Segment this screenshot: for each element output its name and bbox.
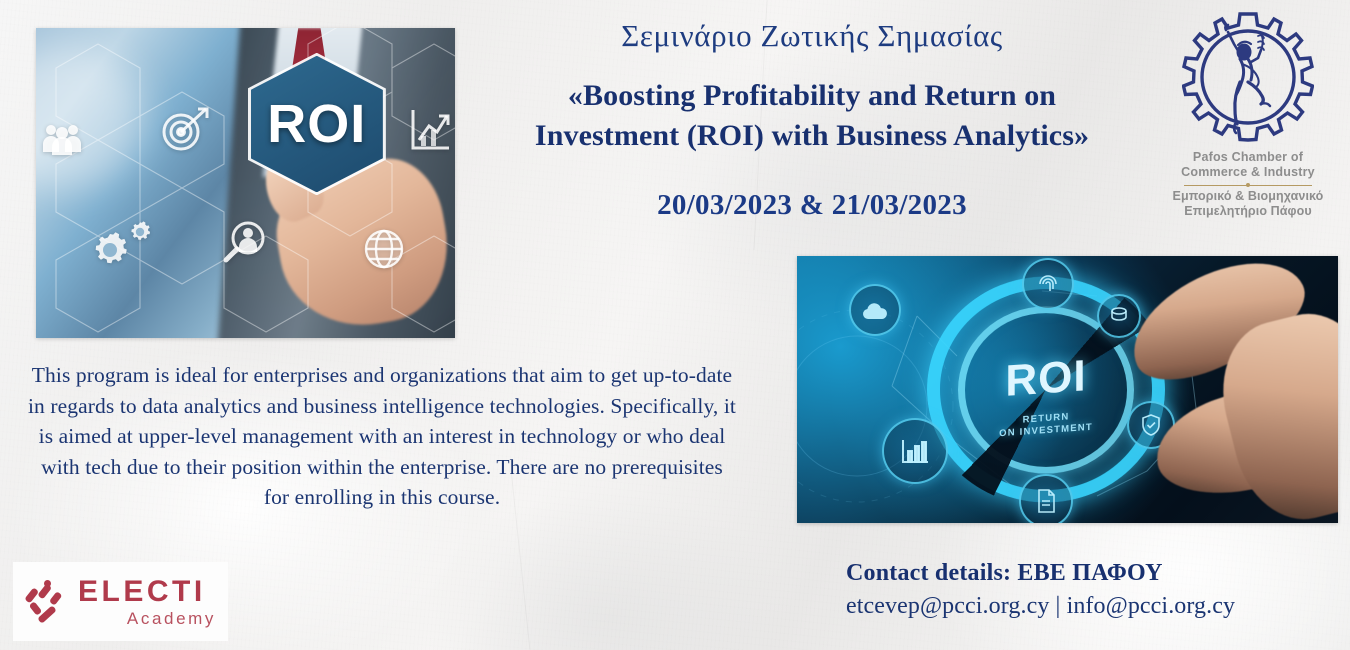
pcci-name-gr-line1: Εμπορικό & Βιομηχανικό — [1158, 189, 1338, 204]
left-hero-photo: ROI — [36, 28, 455, 338]
poster-canvas: ROI — [0, 0, 1350, 650]
greek-kicker: Σεμινάριο Ζωτικής Σημασίας — [462, 18, 1162, 54]
gear-hermes-mark — [1182, 12, 1314, 144]
fingerprint-icon-node — [1022, 258, 1074, 310]
gear-wheel-icon — [1182, 12, 1314, 144]
seminar-title: «Boosting Profitability and Return on In… — [462, 76, 1162, 156]
pcci-name-en: Pafos Chamber of Commerce & Industry — [1158, 150, 1338, 181]
pcci-name-en-line1: Pafos Chamber of — [1158, 150, 1338, 165]
pcci-name-gr-line2: Επιμελητήριο Πάφου — [1158, 204, 1338, 219]
pcci-name-gr: Εμπορικό & Βιομηχανικό Επιμελητήριο Πάφο… — [1158, 189, 1338, 220]
logo-divider — [1184, 185, 1312, 186]
gears-icon — [88, 220, 150, 270]
electi-subtitle: Academy — [78, 610, 218, 627]
pcci-logo: Pafos Chamber of Commerce & Industry Εμπ… — [1158, 12, 1338, 219]
document-icon-node — [1019, 474, 1073, 523]
hexagon-network-overlay — [36, 28, 455, 338]
mark-dot — [44, 580, 51, 587]
growth-chart-icon — [409, 106, 451, 152]
seminar-dates: 20/03/2023 & 21/03/2023 — [462, 189, 1162, 222]
mark-check-short — [29, 601, 43, 616]
target-arrow-icon — [160, 106, 210, 152]
electi-wordmark: ELECTI Academy — [78, 577, 218, 627]
contact-block: Contact details: ΕΒΕ ΠΑΦΟΥ etcevep@pcci.… — [846, 558, 1316, 622]
header-text-block: Σεμινάριο Ζωτικής Σημασίας «Boosting Pro… — [462, 18, 1162, 222]
pcci-name-en-line2: Commerce & Industry — [1158, 165, 1338, 180]
bar-chart-icon-node — [882, 418, 948, 484]
right-hero-photo: ROI RETURN ON INVESTMENT — [797, 256, 1338, 523]
electi-name: ELECTI — [78, 577, 218, 607]
roi-hex-label: ROI — [267, 97, 366, 151]
seminar-title-line1: «Boosting Profitability and Return on — [462, 76, 1162, 116]
mark-check-long — [37, 605, 57, 624]
globe-icon — [363, 228, 405, 270]
contact-emails[interactable]: etcevep@pcci.org.cy | info@pcci.org.cy — [846, 591, 1316, 622]
mark-dash — [24, 587, 38, 603]
mark-dash — [49, 591, 62, 605]
pointing-hand — [1100, 256, 1338, 523]
person-search-icon — [222, 218, 268, 264]
electi-academy-logo: ELECTI Academy — [13, 562, 228, 641]
cloud-icon-node — [849, 284, 901, 336]
contact-title: Contact details: ΕΒΕ ΠΑΦΟΥ — [846, 558, 1316, 589]
seminar-title-line2: Investment (ROI) with Business Analytics… — [462, 116, 1162, 156]
people-group-icon — [42, 122, 82, 156]
program-description: This program is ideal for enterprises an… — [26, 360, 738, 513]
check-with-dashes-icon — [23, 579, 69, 625]
